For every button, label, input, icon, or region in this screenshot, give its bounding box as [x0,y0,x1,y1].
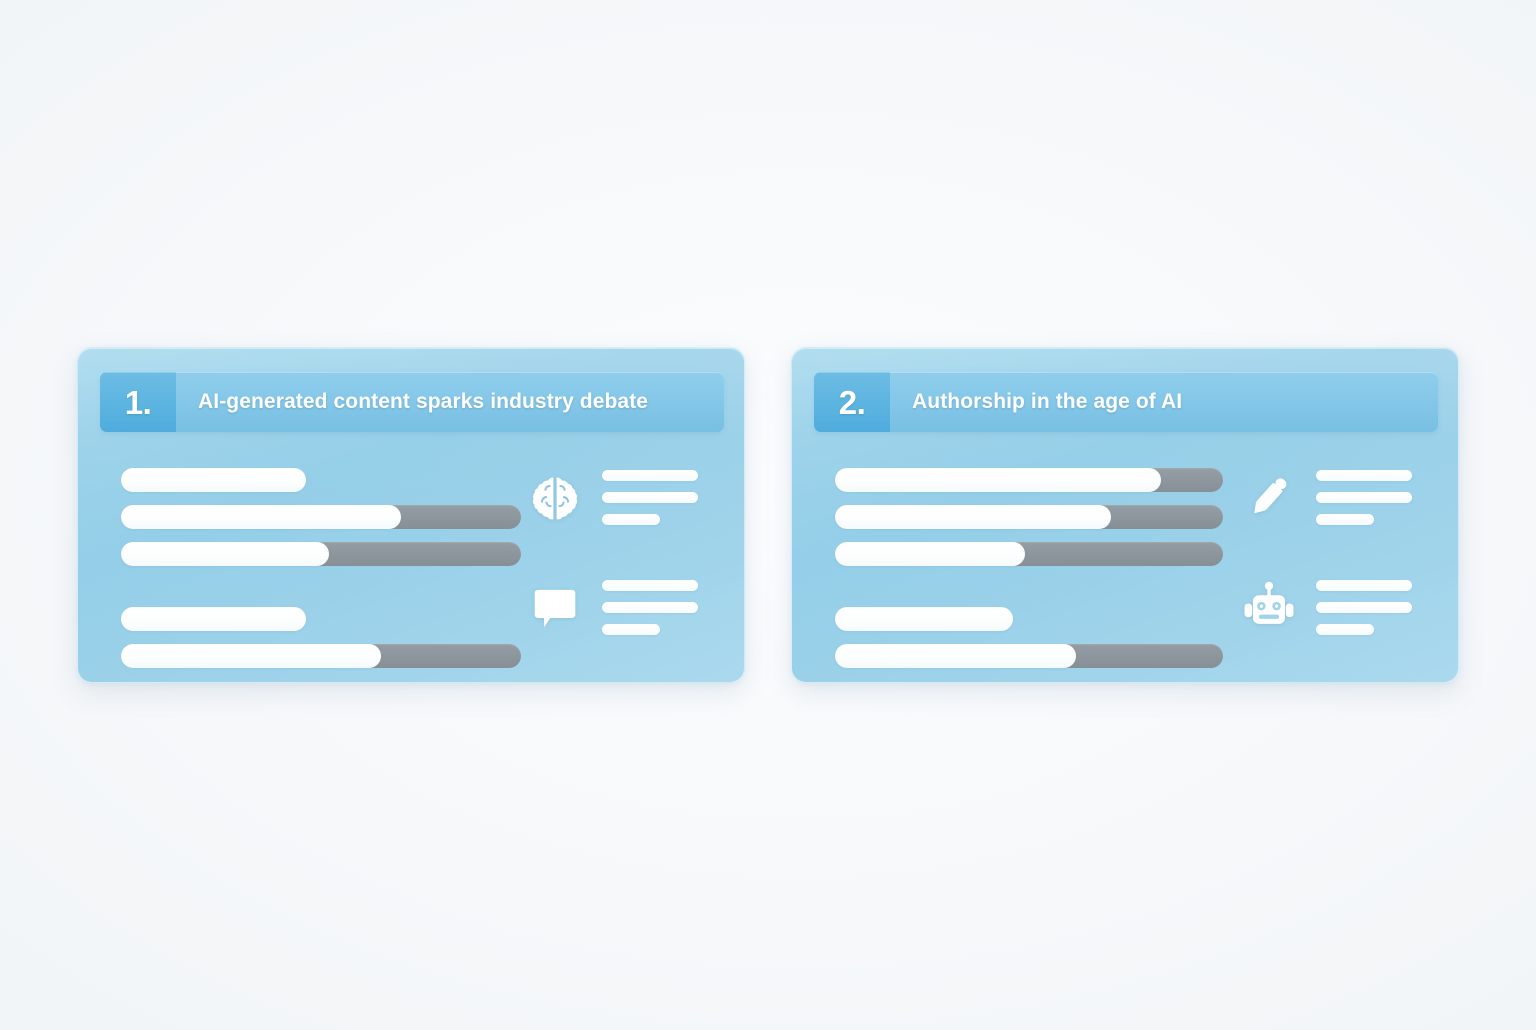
progress-bar-fill [121,542,329,566]
snippet-line [602,602,698,613]
progress-bar-row [835,644,1235,668]
snippet-lines [586,580,714,635]
snippet-line [1316,624,1374,635]
card-number-badge: 1. [100,372,176,432]
card-number: 1. [125,386,152,419]
progress-bar-fill [835,607,1013,631]
card-title: AI-generated content sparks industry deb… [176,372,724,432]
card-number: 2. [839,386,866,419]
snippet-line [1316,492,1412,503]
progress-bar-row [835,607,1235,631]
progress-bar-row [121,505,521,529]
progress-bar-row [121,644,521,668]
progress-bar-row [835,542,1235,566]
snippet-list [1238,454,1428,650]
snippet-lines [1300,470,1428,525]
progress-bar-row [835,505,1235,529]
snippet-lines [586,470,714,525]
progress-bar-row [835,468,1235,492]
card-header: 1. AI-generated content sparks industry … [100,372,724,432]
snippet-line [1316,514,1374,525]
progress-bar-list [121,468,521,681]
snippet-item[interactable] [1238,454,1428,540]
progress-bar-fill [121,607,306,631]
progress-bar-row [121,542,521,566]
card-body [792,446,1458,683]
cards-stage: 1. AI-generated content sparks industry … [0,0,1536,1030]
snippet-line [602,580,698,591]
snippet-line [602,514,660,525]
progress-bar-fill [121,468,306,492]
progress-bar-fill [121,505,401,529]
card-number-badge: 2. [814,372,890,432]
brain-icon [524,466,586,528]
progress-bar-fill [121,644,381,668]
progress-bar-fill [835,468,1161,492]
snippet-list [524,454,714,650]
content-card[interactable]: 1. AI-generated content sparks industry … [77,347,745,683]
snippet-line [1316,580,1412,591]
content-card[interactable]: 2. Authorship in the age of AI [791,347,1459,683]
snippet-line [1316,602,1412,613]
progress-bar-fill [835,505,1111,529]
card-header: 2. Authorship in the age of AI [814,372,1438,432]
robot-icon [1238,576,1300,638]
progress-bar-list [835,468,1235,681]
snippet-lines [1300,580,1428,635]
snippet-item[interactable] [524,454,714,540]
progress-bar-row [121,468,521,492]
snippet-line [602,470,698,481]
progress-bar-fill [835,542,1025,566]
snippet-item[interactable] [524,564,714,650]
snippet-item[interactable] [1238,564,1428,650]
progress-bar-row [121,607,521,631]
progress-bar-fill [835,644,1076,668]
snippet-line [602,624,660,635]
pencil-icon [1238,466,1300,528]
snippet-line [1316,470,1412,481]
card-title: Authorship in the age of AI [890,372,1438,432]
speech-bubble-icon [524,576,586,638]
card-body [78,446,744,683]
snippet-line [602,492,698,503]
